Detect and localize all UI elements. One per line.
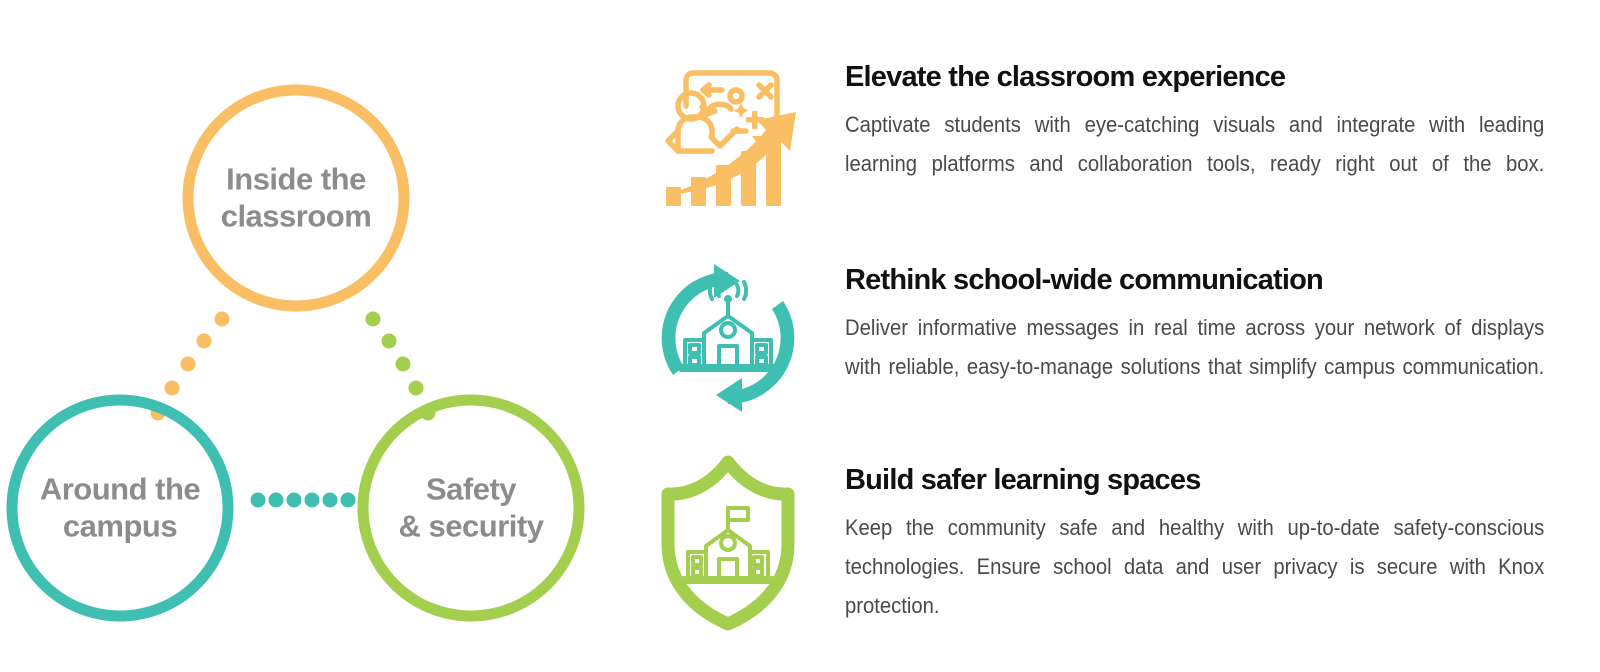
circle-inside-the-classroom xyxy=(188,90,404,306)
feature-block-rethink-communication: Rethink school-wide communication Delive… xyxy=(845,265,1545,425)
green-dotted-arc-dots xyxy=(366,312,436,421)
feature-title: Elevate the classroom experience xyxy=(845,62,1545,94)
feature-block-build-safer-spaces: Build safer learning spaces Keep the com… xyxy=(845,465,1545,664)
feature-body: Keep the community safe and healthy with… xyxy=(845,508,1544,664)
school-broadcast-refresh-icon xyxy=(648,258,808,418)
feature-body: Captivate students with eye-catching vis… xyxy=(845,105,1544,222)
school-shield-icon xyxy=(648,452,808,632)
feature-title: Build safer learning spaces xyxy=(845,465,1545,497)
feature-block-elevate-classroom: Elevate the classroom experience Captiva… xyxy=(845,62,1545,222)
teal-dotted-line-dots xyxy=(251,493,356,508)
classroom-strategy-growth-chart-icon xyxy=(648,58,808,218)
feature-title: Rethink school-wide communication xyxy=(845,265,1545,297)
circle-safety-and-security xyxy=(363,400,579,616)
circle-around-the-campus xyxy=(12,400,228,616)
three-pillar-circle-diagram: Inside the classroom Around the campus S… xyxy=(0,0,620,672)
infographic-page: Inside the classroom Around the campus S… xyxy=(0,0,1600,672)
feature-body: Deliver informative messages in real tim… xyxy=(845,308,1544,425)
